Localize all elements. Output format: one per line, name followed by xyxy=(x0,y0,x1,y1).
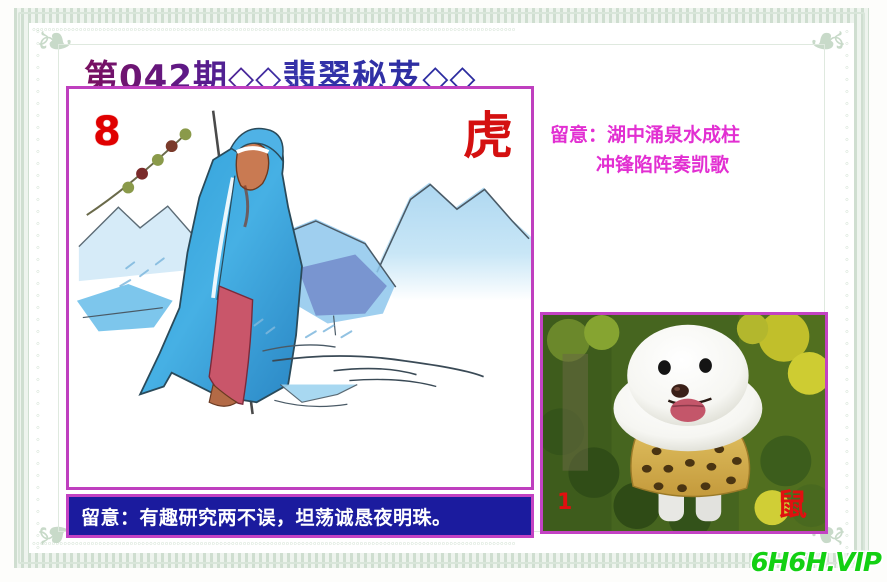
photo-number: 1 xyxy=(557,490,572,515)
site-watermark: 6H6H.VIP xyxy=(751,548,881,578)
main-illustration-card[interactable]: 8 虎 xyxy=(66,86,534,490)
verse-line-2: 冲锋陷阵奏凯歌 xyxy=(550,150,830,180)
caption-text: 留意：有趣研究两不误，坦荡诚恳夜明珠。 xyxy=(69,503,452,530)
illustration-artwork xyxy=(69,89,531,487)
main-number: 8 xyxy=(93,109,121,155)
verse-block: 留意：湖中涌泉水成柱 冲锋陷阵奏凯歌 xyxy=(550,120,830,180)
photo-zodiac-character: 鼠 xyxy=(777,491,807,521)
verse-line-1: 留意：湖中涌泉水成柱 xyxy=(550,124,740,146)
main-zodiac-character: 虎 xyxy=(463,111,513,161)
lottery-poster: ◦◦◦◦◦◦◦◦◦◦◦◦◦◦◦◦◦◦◦◦◦◦◦◦◦◦◦◦◦◦◦◦◦◦◦◦◦◦◦◦… xyxy=(0,0,887,582)
caption-bar: 留意：有趣研究两不误，坦荡诚恳夜明珠。 xyxy=(66,494,534,538)
photo-card[interactable]: 1 鼠 xyxy=(540,312,828,534)
frame-scallop-left: ◦◦◦◦◦◦◦◦◦◦◦◦◦◦◦◦◦◦◦◦◦◦◦◦◦◦◦◦◦◦◦◦◦◦◦◦◦◦◦◦… xyxy=(30,26,44,550)
frame-scallop-right: ◦◦◦◦◦◦◦◦◦◦◦◦◦◦◦◦◦◦◦◦◦◦◦◦◦◦◦◦◦◦◦◦◦◦◦◦◦◦◦◦… xyxy=(839,26,853,550)
poster-content: 第042期◇◇翡翠秘芨◇◇ xyxy=(52,24,834,558)
